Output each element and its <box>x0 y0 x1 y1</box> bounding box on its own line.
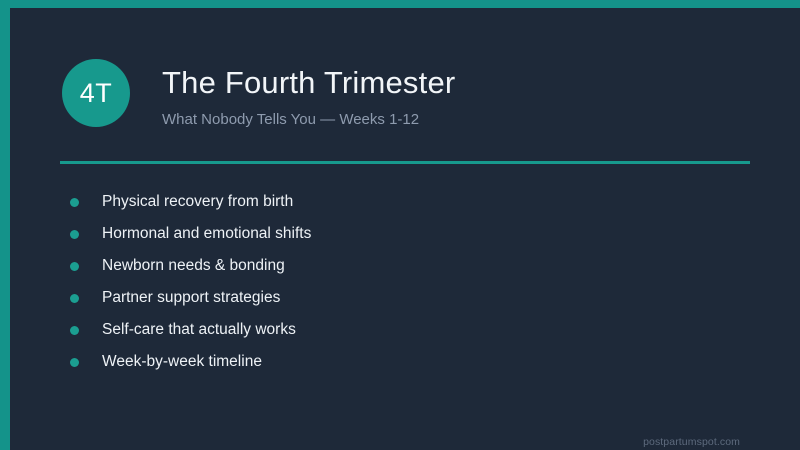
list-item-label: Week-by-week timeline <box>102 353 262 372</box>
list-item-label: Hormonal and emotional shifts <box>102 225 311 244</box>
footer-site-url: postpartumspot.com <box>643 436 740 448</box>
header-divider <box>60 161 750 164</box>
page-title: The Fourth Trimester <box>162 65 455 101</box>
bullet-dot-icon <box>70 230 79 239</box>
list-item: Newborn needs & bonding <box>70 250 710 282</box>
bullet-dot-icon <box>70 294 79 303</box>
bullet-dot-icon <box>70 262 79 271</box>
list-item-label: Physical recovery from birth <box>102 193 293 212</box>
list-item: Week-by-week timeline <box>70 346 710 378</box>
bullet-dot-icon <box>70 358 79 367</box>
slide-footer: postpartumspot.com <box>10 432 740 450</box>
topic-list: Physical recovery from birth Hormonal an… <box>70 186 710 378</box>
trimester-badge: 4T <box>62 59 130 127</box>
slide-canvas: 4T The Fourth Trimester What Nobody Tell… <box>0 0 800 450</box>
list-item: Partner support strategies <box>70 282 710 314</box>
list-item: Self-care that actually works <box>70 314 710 346</box>
list-item-label: Self-care that actually works <box>102 321 296 340</box>
list-item-label: Newborn needs & bonding <box>102 257 285 276</box>
bullet-dot-icon <box>70 198 79 207</box>
page-subtitle: What Nobody Tells You — Weeks 1-12 <box>162 111 455 129</box>
list-item: Physical recovery from birth <box>70 186 710 218</box>
slide-header: 4T The Fourth Trimester What Nobody Tell… <box>62 59 455 129</box>
list-item: Hormonal and emotional shifts <box>70 218 710 250</box>
bullet-dot-icon <box>70 326 79 335</box>
list-item-label: Partner support strategies <box>102 289 280 308</box>
title-block: The Fourth Trimester What Nobody Tells Y… <box>162 59 455 129</box>
badge-label: 4T <box>80 80 113 107</box>
